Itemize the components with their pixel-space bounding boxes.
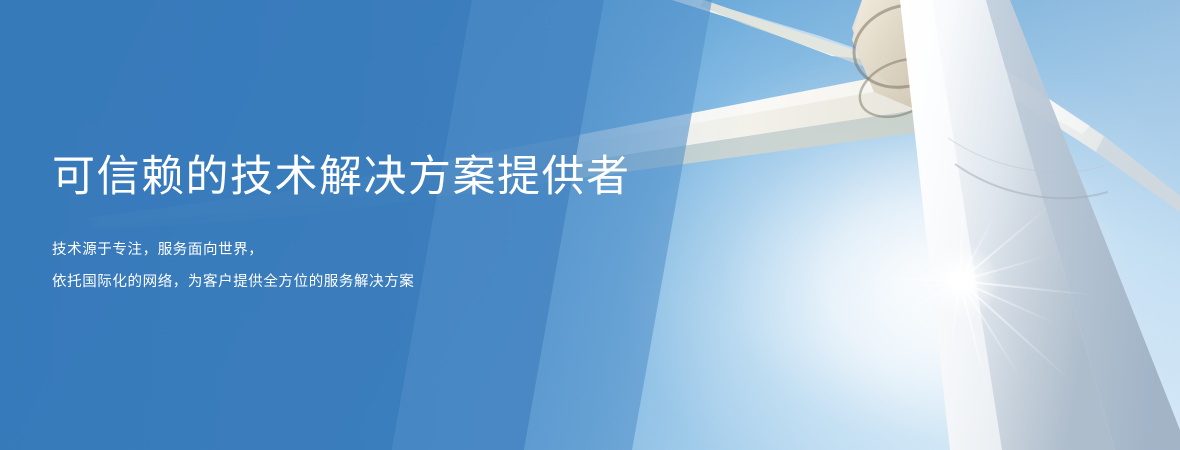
hero-banner: 可信赖的技术解决方案提供者 技术源于专注，服务面向世界， 依托国际化的网络，为客… (0, 0, 1180, 450)
hero-subtitle: 技术源于专注，服务面向世界， 依托国际化的网络，为客户提供全方位的服务解决方案 (52, 234, 672, 298)
hero-headline: 可信赖的技术解决方案提供者 (52, 150, 672, 204)
hero-subtitle-line-2: 依托国际化的网络，为客户提供全方位的服务解决方案 (52, 266, 672, 298)
hero-subtitle-line-1: 技术源于专注，服务面向世界， (52, 234, 672, 266)
hero-copy-block: 可信赖的技术解决方案提供者 技术源于专注，服务面向世界， 依托国际化的网络，为客… (52, 150, 672, 298)
